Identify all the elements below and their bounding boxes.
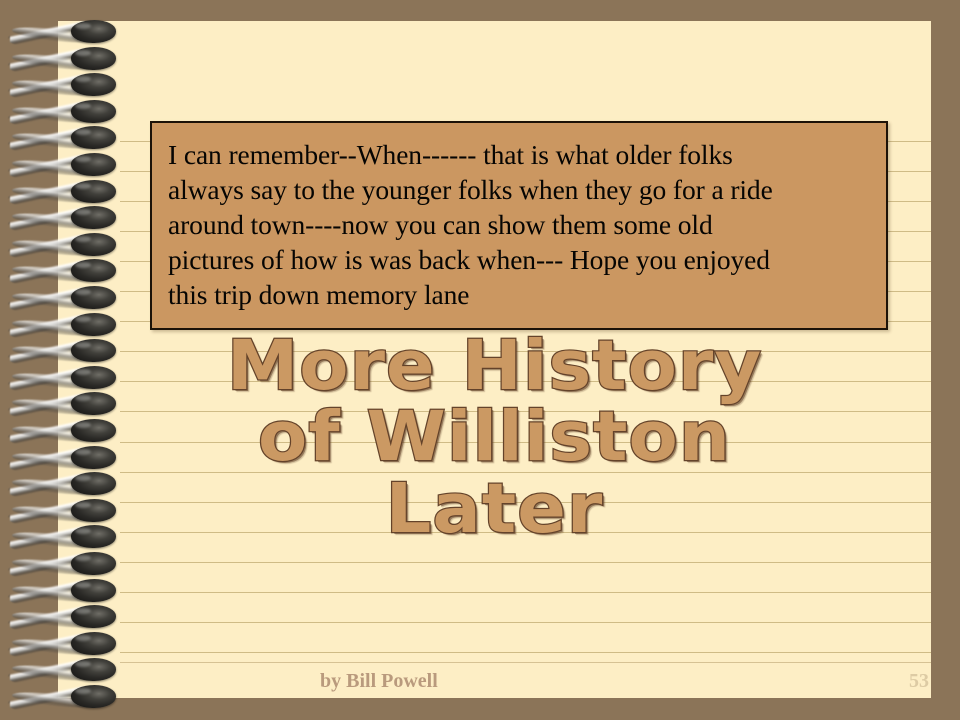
ruled-line	[120, 411, 931, 412]
slide-canvas: I can remember--When------ that is what …	[0, 0, 960, 720]
ruled-line	[120, 472, 931, 473]
ruled-line	[120, 351, 931, 352]
ruled-line	[120, 502, 931, 503]
page-number: 53	[909, 670, 929, 693]
ruled-line	[120, 562, 931, 563]
ruled-line	[120, 532, 931, 533]
footer-divider	[120, 662, 931, 663]
quote-text: I can remember--When------ that is what …	[168, 137, 870, 312]
quote-textbox: I can remember--When------ that is what …	[150, 121, 888, 330]
ruled-line	[120, 442, 931, 443]
footer-author: by Bill Powell	[320, 670, 438, 693]
ruled-line	[120, 592, 931, 593]
ruled-line	[120, 622, 931, 623]
footer: by Bill Powell 53	[120, 666, 931, 696]
ruled-line	[120, 381, 931, 382]
ruled-line	[120, 652, 931, 653]
